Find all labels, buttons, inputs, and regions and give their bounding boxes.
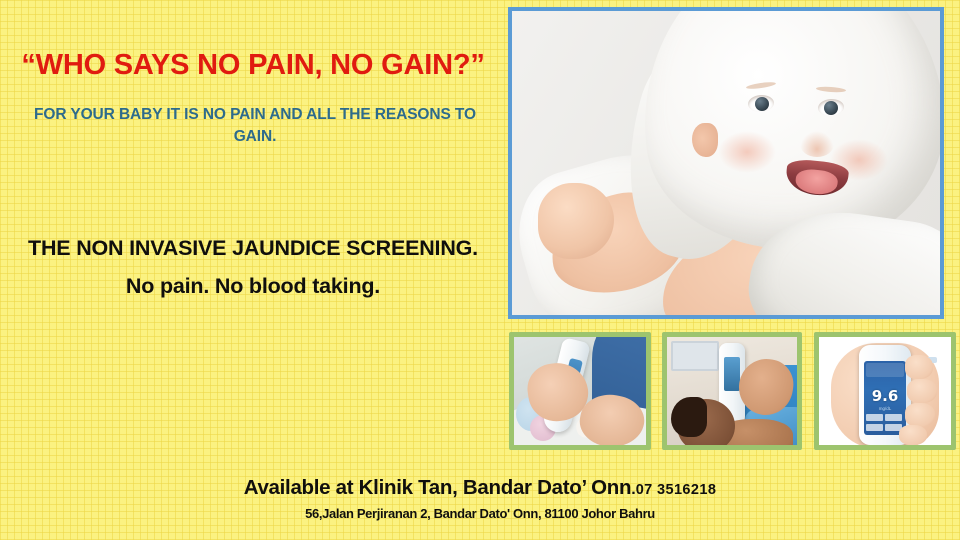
clinic-availability-text: Available at Klinik Tan, Bandar Dato’ On… [244, 476, 632, 499]
contact-line: Available at Klinik Tan, Bandar Dato’ On… [0, 476, 960, 500]
thumbnail-2-scene [667, 337, 797, 445]
thumb3-device-reading-value: 9.6 [864, 389, 906, 404]
thumb3-device-screen: 9.6 mg/dL [864, 361, 906, 435]
thumb3-finger [899, 425, 927, 445]
clinic-phone-number: 07 3516218 [636, 482, 717, 498]
thumb3-finger [907, 379, 937, 403]
thumb2-newborn-hair [671, 397, 707, 437]
thumbnail-device-on-foot [509, 332, 651, 450]
thumb3-screen-button [866, 424, 883, 431]
thumbnail-newborn-measurement [662, 332, 802, 450]
baby-cheek-left [718, 131, 776, 173]
poster-subheadline: FOR YOUR BABY IT IS NO PAIN AND ALL THE … [18, 104, 492, 148]
baby-nose [800, 131, 834, 157]
thumb3-screen-button [885, 414, 902, 421]
main-baby-photo [508, 7, 944, 319]
tagline-line-2: No pain. No blood taking. [0, 274, 506, 299]
thumb3-screen-topbar [866, 363, 904, 377]
thumbnail-3-scene: 9.6 mg/dL [819, 337, 951, 445]
thumb3-finger [905, 403, 935, 427]
baby-ear [692, 123, 718, 157]
thumb3-screen-button [866, 414, 883, 421]
baby-pupil-left [755, 97, 769, 111]
clinic-address: 56,Jalan Perjiranan 2, Bandar Dato' Onn,… [0, 506, 960, 521]
thumbnail-device-reading: 9.6 mg/dL [814, 332, 956, 450]
poster-headline: “WHO SAYS NO PAIN, NO GAIN?” [0, 50, 506, 80]
thumb3-finger [905, 355, 933, 379]
thumb3-device-reading-unit: mg/dL [864, 406, 906, 411]
main-baby-photo-scene [512, 11, 940, 315]
thumbnail-1-scene [514, 337, 646, 445]
tagline-line-1: THE NON INVASIVE JAUNDICE SCREENING. [0, 236, 506, 261]
text-column: “WHO SAYS NO PAIN, NO GAIN?” FOR YOUR BA… [0, 0, 506, 460]
thumb2-wall-panel [671, 341, 719, 371]
baby-pupil-right [824, 101, 838, 115]
thumb3-screen-buttons [866, 414, 904, 432]
thumb2-device-screen [724, 357, 740, 391]
jaundice-screening-poster: “WHO SAYS NO PAIN, NO GAIN?” FOR YOUR BA… [0, 0, 960, 540]
